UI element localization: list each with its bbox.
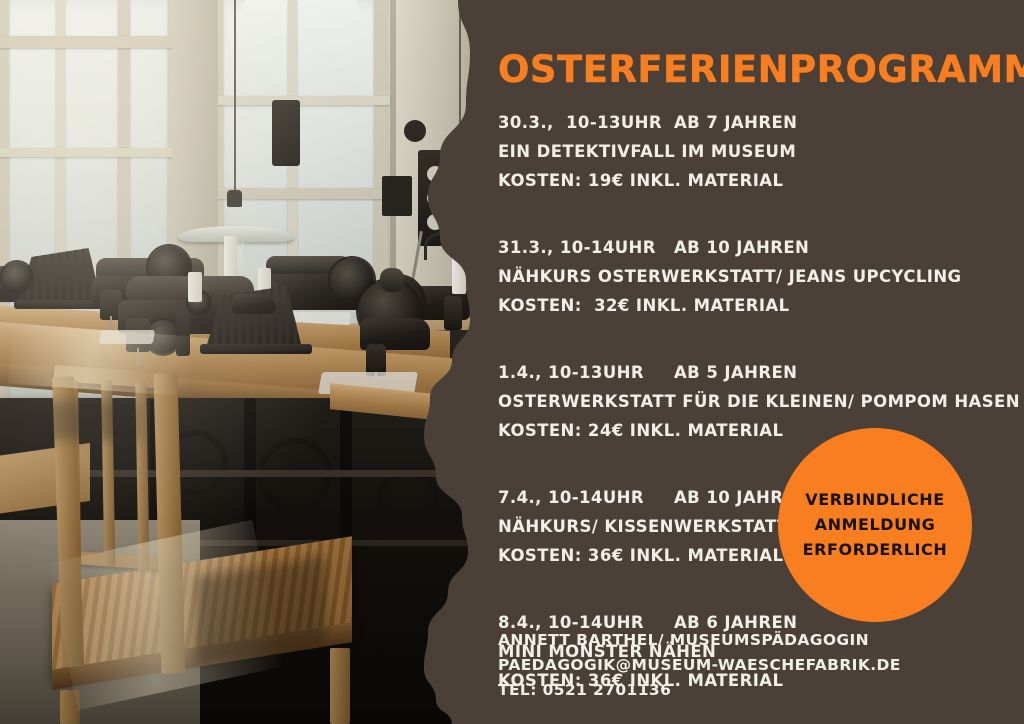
programme-datetime: 31.3., 10-14UHR: [498, 233, 674, 262]
page-title: OSTERFERIENPROGRAMM: [498, 48, 1024, 91]
workshop-photo: [0, 0, 480, 724]
mullion: [0, 36, 184, 48]
programme-price: KOSTEN: 32€ INKL. MATERIAL: [498, 291, 1024, 320]
chair-leg: [330, 648, 350, 724]
photo-content: [0, 0, 480, 724]
poster-content: OSTERFERIENPROGRAMM 30.3., 10-13UHR AB 7…: [498, 0, 1024, 724]
wall-dial: [427, 214, 443, 230]
thread-spool: [452, 250, 466, 294]
chair-leg: [60, 690, 80, 724]
wall-box: [272, 100, 300, 166]
badge-line-1: VERBINDLICHE: [805, 489, 944, 511]
contact-info: ANNETT BARTHEL/ MUSEUMSPÄDAGOGIN PAEDAGO…: [498, 628, 901, 703]
mullion: [0, 148, 184, 157]
programme-datetime: 7.4., 10-14UHR: [498, 483, 674, 512]
programme-age: AB 5 JAHREN: [674, 358, 797, 387]
wall-switch: [382, 176, 412, 216]
contact-phone[interactable]: TEL: 0521 2701136: [498, 678, 901, 703]
mullion: [0, 0, 9, 466]
thread-spool: [188, 272, 202, 302]
lamp-socket: [227, 190, 242, 207]
fabric-piece: [99, 330, 155, 344]
wall-dial: [427, 166, 443, 182]
programme-datetime: 1.4., 10-13UHR: [498, 358, 674, 387]
thread-spool: [224, 236, 237, 280]
contact-email[interactable]: PAEDAGOGIK@MUSEUM-WAESCHEFABRIK.DE: [498, 653, 901, 678]
programme-header: 30.3., 10-13UHR AB 7 JAHREN: [498, 108, 1024, 137]
programme-header: 1.4., 10-13UHR AB 5 JAHREN: [498, 358, 1024, 387]
lamp-cord: [459, 0, 461, 170]
contact-name: ANNETT BARTHEL/ MUSEUMSPÄDAGOGIN: [498, 628, 901, 653]
lamp-cord: [234, 0, 236, 194]
programme-price: KOSTEN: 19€ INKL. MATERIAL: [498, 166, 1024, 195]
wall-knob: [404, 120, 426, 142]
programme-list: 30.3., 10-13UHR AB 7 JAHREN EIN DETEKTIV…: [498, 108, 1024, 695]
treadle-wheel: [378, 468, 438, 528]
programme-title: EIN DETEKTIVFALL IM MUSEUM: [498, 137, 1024, 166]
window-arch: [236, 0, 366, 110]
programme-header: 31.3., 10-14UHR AB 10 JAHREN: [498, 233, 1024, 262]
poster: OSTERFERIENPROGRAMM 30.3., 10-13UHR AB 7…: [0, 0, 1024, 724]
programme-price: KOSTEN: 24€ INKL. MATERIAL: [498, 416, 1024, 445]
programme-title: NÄHKURS OSTERWERKSTATT/ JEANS UPCYCLING: [498, 262, 1024, 291]
registration-required-badge: VERBINDLICHE ANMELDUNG ERFORDERLICH: [778, 428, 972, 622]
programme-item: 31.3., 10-14UHR AB 10 JAHREN NÄHKURS OST…: [498, 233, 1024, 320]
cast-shadow: [0, 400, 140, 440]
programme-title: OSTERWERKSTATT FÜR DIE KLEINEN/ POMPOM H…: [498, 387, 1024, 416]
badge-line-2: ANMELDUNG: [815, 514, 936, 536]
programme-datetime: 30.3., 10-13UHR: [498, 108, 674, 137]
mullion: [210, 96, 390, 105]
programme-age: AB 10 JAHREN: [674, 233, 809, 262]
programme-item: 30.3., 10-13UHR AB 7 JAHREN EIN DETEKTIV…: [498, 108, 1024, 195]
programme-age: AB 7 JAHREN: [674, 108, 797, 137]
programme-item: 1.4., 10-13UHR AB 5 JAHREN OSTERWERKSTAT…: [498, 358, 1024, 445]
badge-line-3: ERFORDERLICH: [803, 539, 948, 561]
